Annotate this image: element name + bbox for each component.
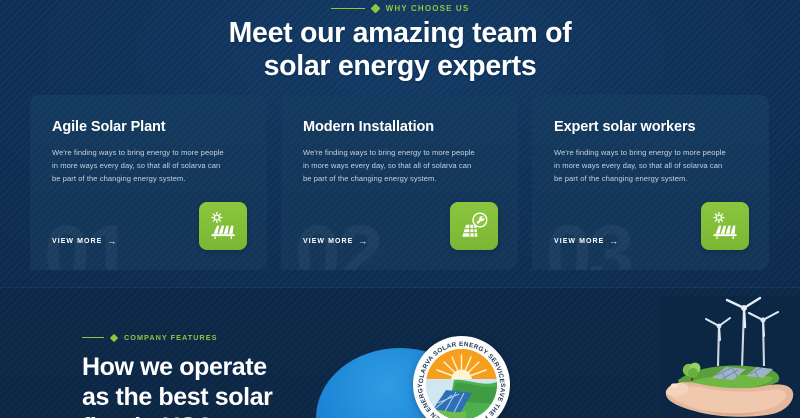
hand-holding-renewable-energy-photo: [660, 296, 800, 418]
solar-panel-sun-icon: [199, 202, 247, 250]
page-title-line-1: Meet our amazing team of: [229, 17, 572, 49]
view-more-label: VIEW MORE: [52, 238, 102, 245]
card-description: We're finding ways to bring energy to mo…: [52, 146, 227, 186]
view-more-label: VIEW MORE: [303, 238, 353, 245]
arrow-right-icon: →: [107, 237, 117, 246]
card-title: Agile Solar Plant: [52, 119, 245, 135]
solar-panel-wrench-icon: [450, 202, 498, 250]
feature-card[interactable]: 03 Expert solar workers We're finding wa…: [532, 95, 769, 270]
card-description: We're finding ways to bring energy to mo…: [303, 146, 478, 186]
feature-card[interactable]: 02 Modern Installation We're finding way…: [281, 95, 518, 270]
company-features-title-line-2: as the best solar: [82, 383, 273, 411]
solar-panel-sun-icon: [701, 202, 749, 250]
page-title: Meet our amazing team of solar energy ex…: [0, 17, 800, 83]
view-more-link[interactable]: VIEW MORE →: [52, 237, 117, 246]
eyebrow-line-icon: [331, 8, 365, 9]
arrow-right-icon: →: [358, 237, 368, 246]
feature-card[interactable]: 01 Agile Solar Plant We're finding ways …: [30, 95, 267, 270]
company-features-title-line-1: How we operate: [82, 353, 267, 381]
page-title-line-2: solar energy experts: [264, 50, 537, 82]
why-choose-us-eyebrow: WHY CHOOSE US: [0, 4, 800, 13]
sun-over-solar-field-icon: [426, 349, 497, 418]
section-divider: [0, 287, 800, 288]
company-features-title-line-3: firm in USA: [82, 413, 214, 418]
eyebrow-diamond-icon: [370, 4, 380, 14]
eyebrow-line-icon: [82, 337, 104, 338]
company-features-eyebrow: COMPANY FEATURES: [82, 333, 217, 342]
feature-cards-list: 01 Agile Solar Plant We're finding ways …: [30, 95, 770, 270]
arrow-right-icon: →: [609, 237, 619, 246]
view-more-link[interactable]: VIEW MORE →: [303, 237, 368, 246]
card-description: We're finding ways to bring energy to mo…: [554, 146, 729, 186]
eyebrow-label: COMPANY FEATURES: [124, 333, 217, 342]
view-more-link[interactable]: VIEW MORE →: [554, 237, 619, 246]
page-root: WHY CHOOSE US Meet our amazing team of s…: [0, 0, 800, 418]
card-title: Modern Installation: [303, 119, 496, 135]
eyebrow-diamond-icon: [110, 333, 118, 341]
view-more-label: VIEW MORE: [554, 238, 604, 245]
eyebrow-label: WHY CHOOSE US: [386, 4, 470, 13]
card-title: Expert solar workers: [554, 119, 747, 135]
why-choose-us-section: WHY CHOOSE US Meet our amazing team of s…: [0, 0, 800, 288]
seal-badge: SOLARVA SOLAR ENERGY SERVICES SAVE THE P…: [413, 336, 510, 418]
company-features-title: How we operate as the best solar firm in…: [82, 352, 342, 418]
